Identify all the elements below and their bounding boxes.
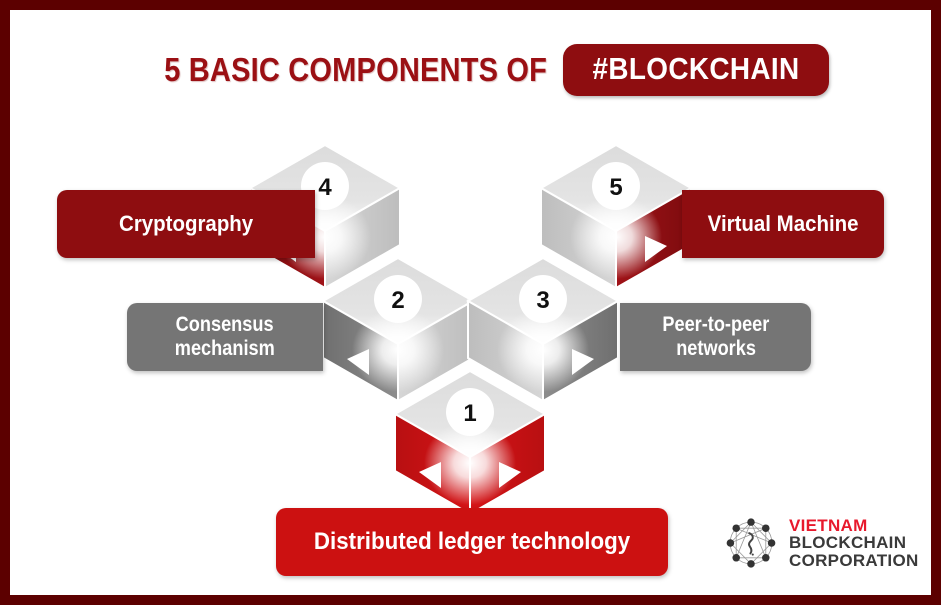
vietnam-blockchain-corporation-logo[interactable]: VIETNAM BLOCKCHAIN CORPORATION: [722, 514, 919, 572]
logo-line-corporation: CORPORATION: [789, 552, 919, 569]
label-virtual-machine[interactable]: Virtual Machine: [682, 190, 884, 258]
label-dlt-text: Distributed ledger technology: [314, 529, 630, 556]
cube-5[interactable]: 5: [541, 145, 691, 288]
label-distributed-ledger-technology[interactable]: Distributed ledger technology: [276, 508, 668, 576]
cube-3-number: 3: [536, 287, 549, 314]
logo-wordmark: VIETNAM BLOCKCHAIN CORPORATION: [789, 517, 919, 569]
label-cryptography[interactable]: Cryptography: [57, 190, 315, 258]
cube-2[interactable]: 2: [323, 258, 473, 401]
octagon-network-icon: [722, 514, 780, 572]
label-virtual-machine-text: Virtual Machine: [708, 212, 859, 237]
label-p2p-text: Peer-to-peer networks: [658, 313, 773, 360]
page-title: 5 Basic Components of #BLOCKCHAIN: [0, 44, 941, 96]
blockchain-hashtag-label: #BLOCKCHAIN: [593, 51, 800, 87]
infographic-canvas: 4 5 2: [0, 0, 941, 605]
logo-line-blockchain: BLOCKCHAIN: [789, 534, 919, 551]
cube-1-number: 1: [463, 400, 476, 427]
cube-3[interactable]: 3: [468, 258, 618, 401]
cube-1[interactable]: 1: [395, 371, 545, 514]
label-consensus-mechanism-text: Consensus mechanism: [171, 313, 278, 360]
label-consensus-mechanism[interactable]: Consensus mechanism: [127, 303, 323, 371]
page-title-lead: 5 Basic Components of: [164, 51, 547, 89]
blockchain-hashtag-badge: #BLOCKCHAIN: [563, 44, 829, 96]
cube-4-number: 4: [318, 174, 332, 201]
label-p2p-line2: networks: [676, 337, 756, 361]
vietnam-map-shape: [749, 533, 753, 553]
label-consensus-line1: Consensus: [176, 313, 274, 337]
label-p2p-line1: Peer-to-peer: [662, 313, 769, 337]
cube-5-number: 5: [609, 174, 622, 201]
label-cryptography-text: Cryptography: [119, 212, 253, 237]
label-peer-to-peer-networks[interactable]: Peer-to-peer networks: [620, 303, 811, 371]
label-consensus-line2: mechanism: [175, 337, 275, 361]
cube-2-number: 2: [391, 287, 404, 314]
logo-line-vietnam: VIETNAM: [789, 517, 919, 534]
